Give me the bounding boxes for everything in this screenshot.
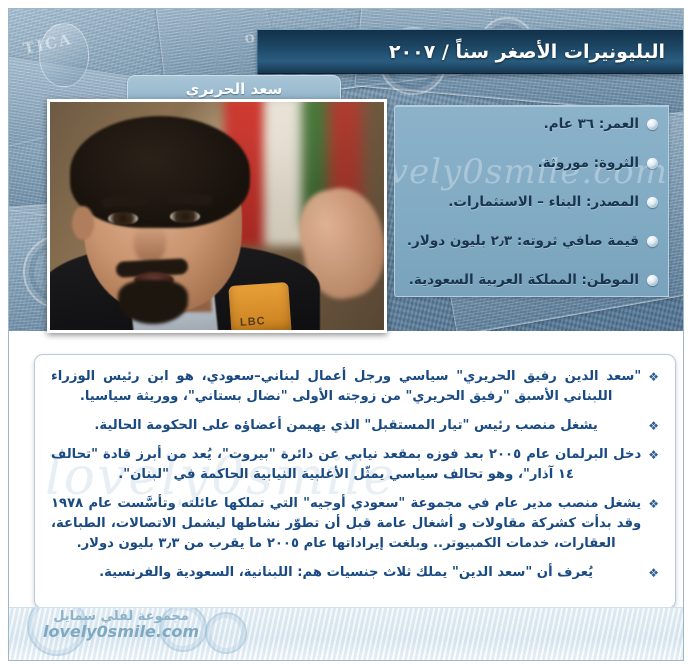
bio-paragraph: ❖ دخل البرلمان عام ٢٠٠٥ بعد فوزه بمقعد ن…	[51, 445, 659, 485]
fact-row-age: العمر: ٣٦ عام.	[405, 116, 658, 132]
fact-text: قيمة صافي ثروته: ٢٫٣ بليون دولار.	[407, 233, 639, 249]
glossy-dot-icon	[647, 197, 658, 208]
fact-row-source: المصدر: البناء – الاستثمارات.	[405, 194, 658, 210]
site-brand[interactable]: مجموعة لفلي سمايل lovely0smile.com	[43, 610, 199, 640]
glossy-dot-icon	[647, 119, 658, 130]
poster-page: TICA ONE البليونيرات الأصغر سناً / ٢٠٠٧ …	[0, 0, 692, 669]
bio-paragraph: ❖ يُعرف أن "سعد الدين" يملك ثلاث جنسيات …	[51, 563, 659, 583]
fact-row-residence: الموطن: المملكة العربية السعودية.	[405, 272, 658, 288]
diamond-bullet-icon: ❖	[648, 495, 659, 514]
glossy-dot-icon	[647, 275, 658, 286]
fact-text: العمر: ٣٦ عام.	[544, 116, 639, 132]
footer-seal-icon	[205, 612, 247, 654]
fact-text: الموطن: المملكة العربية السعودية.	[409, 272, 639, 288]
fact-text: المصدر: البناء – الاستثمارات.	[448, 194, 639, 210]
microphone-label: LBC	[240, 315, 266, 329]
bio-paragraph-text: يشغل منصب رئيس "تيار المستقبل" الذي يهيم…	[51, 416, 641, 436]
person-name-badge: سعد الحريري	[127, 75, 341, 101]
glossy-dot-icon	[647, 236, 658, 247]
glossy-dot-icon	[647, 158, 658, 169]
diamond-bullet-icon: ❖	[648, 446, 659, 465]
header-title-bar: البليونيرات الأصغر سناً / ٢٠٠٧	[257, 29, 683, 74]
footer-bar: مجموعة لفلي سمايل lovely0smile.com	[9, 607, 683, 660]
ear-shape	[72, 206, 94, 240]
fact-row-networth: قيمة صافي ثروته: ٢٫٣ بليون دولار.	[405, 233, 658, 249]
eye-shape	[108, 212, 138, 225]
nose-shape	[134, 224, 166, 264]
biography-card: lovely0smile ❖ "سعد الدين رفيق الحريري" …	[34, 354, 676, 609]
bio-paragraph-text: يُعرف أن "سعد الدين" يملك ثلاث جنسيات هم…	[51, 563, 641, 583]
bio-paragraph-text: دخل البرلمان عام ٢٠٠٥ بعد فوزه بمقعد نيا…	[51, 445, 641, 485]
page-title: البليونيرات الأصغر سناً / ٢٠٠٧	[389, 41, 683, 63]
beard-shape	[118, 280, 188, 324]
fact-text: الثروة: موروثة.	[538, 155, 639, 171]
brand-url[interactable]: lovely0smile.com	[43, 624, 199, 641]
diamond-bullet-icon: ❖	[648, 368, 659, 387]
bio-paragraph: ❖ "سعد الدين رفيق الحريري" سياسي ورجل أع…	[51, 367, 659, 407]
poster-frame: TICA ONE البليونيرات الأصغر سناً / ٢٠٠٧ …	[8, 8, 684, 661]
hair-shape	[70, 116, 250, 228]
fact-row-wealth: الثروة: موروثة.	[405, 155, 658, 171]
bio-paragraph: ❖ يشغل منصب مدير عام في مجموعة "سعودي أو…	[51, 494, 659, 554]
person-photo: LBC	[47, 99, 387, 333]
bio-paragraph-text: يشغل منصب مدير عام في مجموعة "سعودي أوجي…	[51, 494, 641, 554]
bio-paragraph: ❖ يشغل منصب رئيس "تيار المستقبل" الذي يه…	[51, 416, 659, 436]
eye-shape	[170, 210, 200, 223]
bio-paragraph-text: "سعد الدين رفيق الحريري" سياسي ورجل أعما…	[51, 367, 641, 407]
diamond-bullet-icon: ❖	[648, 564, 659, 583]
diamond-bullet-icon: ❖	[648, 417, 659, 436]
facts-panel: lovely0smile.com العمر: ٣٦ عام. الثروة: …	[394, 105, 669, 297]
person-name: سعد الحريري	[186, 80, 283, 98]
